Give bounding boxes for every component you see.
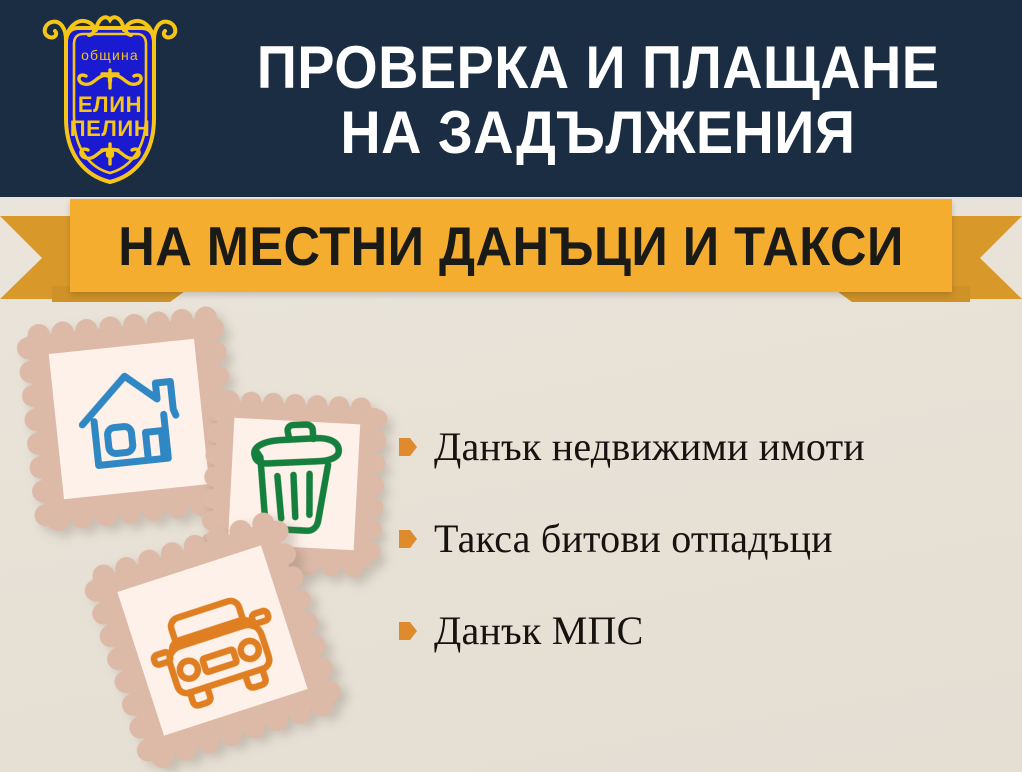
crest-word-line1: ЕЛИН bbox=[78, 92, 142, 117]
arrow-bullet-icon bbox=[398, 527, 418, 551]
municipality-crest: община ЕЛИН ПЕЛИН bbox=[36, 10, 184, 190]
crest-icon: община ЕЛИН ПЕЛИН bbox=[36, 10, 184, 190]
crest-word-line2: ПЕЛИН bbox=[70, 116, 151, 141]
list-item-label: Данък недвижими имоти bbox=[434, 426, 865, 468]
list-item-label: Данък МПС bbox=[434, 610, 644, 652]
subtitle-ribbon: НА МЕСТНИ ДАНЪЦИ И ТАКСИ bbox=[0, 196, 1022, 308]
poster-canvas: община ЕЛИН ПЕЛИН ПРОВЕРКА И ПЛАЩАНЕ НА … bbox=[0, 0, 1022, 772]
list-item[interactable]: Такса битови отпадъци bbox=[398, 518, 1008, 560]
arrow-bullet-icon bbox=[398, 435, 418, 459]
list-item-label: Такса битови отпадъци bbox=[434, 518, 833, 560]
ribbon-label: НА МЕСТНИ ДАНЪЦИ И ТАКСИ bbox=[105, 199, 916, 292]
arrow-bullet-icon bbox=[398, 619, 418, 643]
page-title-line-1: ПРОВЕРКА И ПЛАЩАНЕ bbox=[257, 36, 940, 101]
crest-word-top: община bbox=[81, 47, 139, 63]
tax-types-list: Данък недвижими имоти Такса битови отпад… bbox=[398, 426, 1008, 652]
list-item[interactable]: Данък недвижими имоти bbox=[398, 426, 1008, 468]
list-item[interactable]: Данък МПС bbox=[398, 610, 1008, 652]
page-title-line-2: НА ЗАДЪЛЖЕНИЯ bbox=[340, 101, 855, 166]
header-band: община ЕЛИН ПЕЛИН ПРОВЕРКА И ПЛАЩАНЕ НА … bbox=[0, 0, 1022, 197]
page-title: ПРОВЕРКА И ПЛАЩАНЕ НА ЗАДЪЛЖЕНИЯ bbox=[188, 18, 1008, 183]
